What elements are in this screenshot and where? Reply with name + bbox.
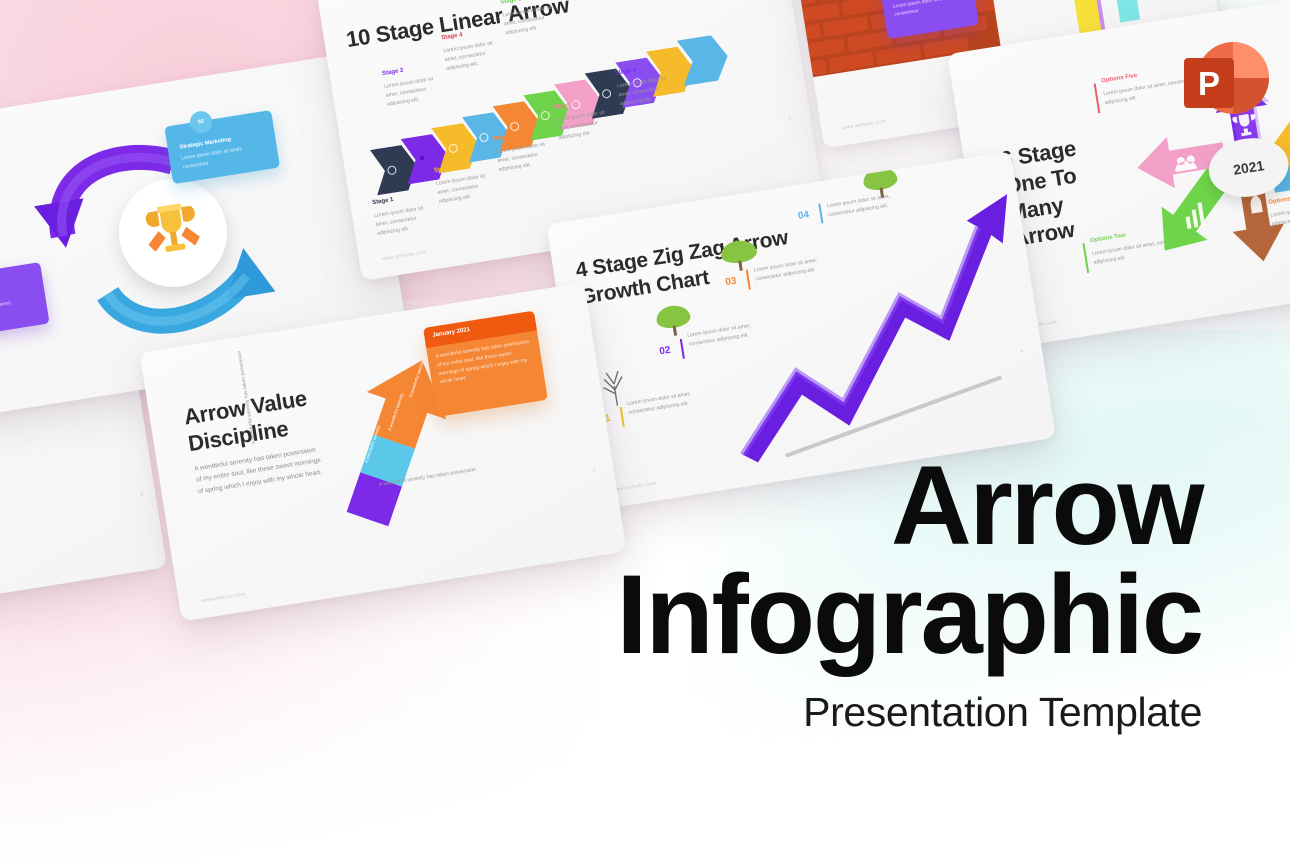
powerpoint-quadrant-dark xyxy=(1233,78,1269,114)
hero-subtitle: Presentation Template xyxy=(482,689,1202,736)
trophy-icon xyxy=(136,194,210,271)
step-03-number: 03 xyxy=(725,276,738,289)
powerpoint-quadrant-light xyxy=(1233,42,1269,78)
powerpoint-letter-tile: P xyxy=(1184,58,1234,108)
hero-line-2: Infographic xyxy=(482,561,1202,670)
screenshot-root: 5 Stage Intertwined Arrows Options Five … xyxy=(0,0,1290,860)
step-02-number: 02 xyxy=(659,345,672,358)
center-year-label: 2021 xyxy=(1205,133,1290,203)
step-04-number: 04 xyxy=(797,209,810,222)
card-02-number: 02 xyxy=(197,119,204,126)
powerpoint-icon: P xyxy=(1181,38,1269,126)
hero-title-block: Arrow Infographic Presentation Template xyxy=(482,452,1202,736)
hero-line-1: Arrow xyxy=(482,452,1202,561)
powerpoint-letter: P xyxy=(1198,67,1220,100)
